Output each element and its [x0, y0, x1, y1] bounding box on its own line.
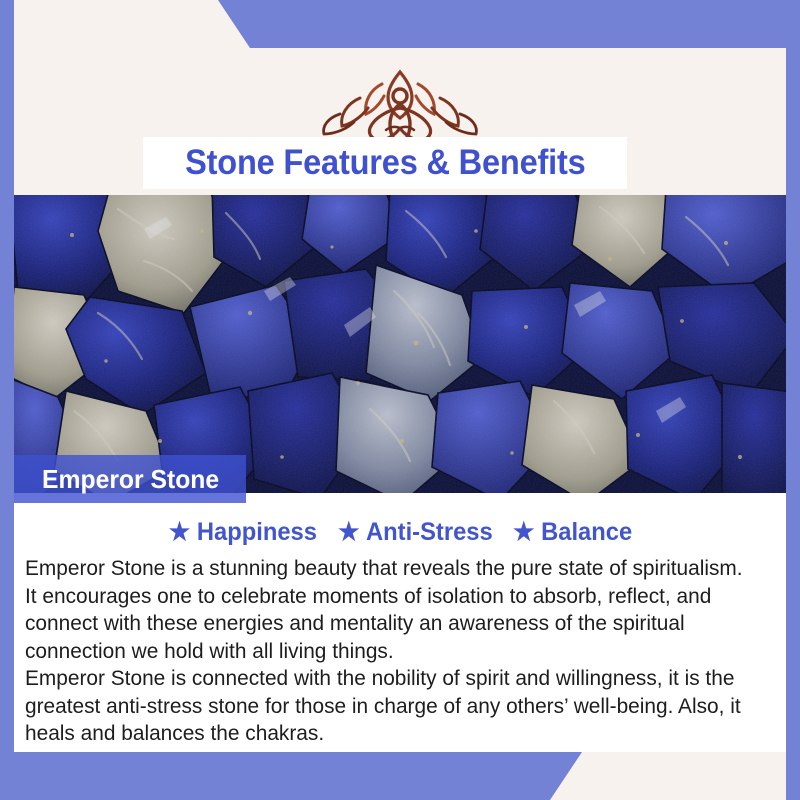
frame-corner-top-right: [0, 0, 800, 48]
frame-edge-right: [786, 0, 800, 800]
frame-corner-bottom-left: [0, 752, 800, 800]
description-copy: Emperor Stone is a stunning beauty that …: [14, 547, 786, 748]
stone-name-label: Emperor Stone: [19, 464, 219, 495]
description-paragraph-2: Emperor Stone is connected with the nobi…: [25, 665, 753, 748]
page-title-banner: Stone Features & Benefits: [143, 137, 627, 189]
stone-name-badge: Emperor Stone: [14, 455, 246, 503]
description-panel: ★ Happiness ★ Anti-Stress ★ Balance Empe…: [14, 493, 786, 752]
star-icon: ★: [169, 520, 190, 545]
benefit-label: Happiness: [197, 518, 317, 547]
benefit-label: Anti-Stress: [366, 518, 493, 547]
benefit-item-happiness: ★ Happiness: [169, 518, 317, 547]
lapis-lazuli-illustration: [14, 195, 786, 493]
frame-edge-left: [0, 0, 14, 800]
benefit-label: Balance: [541, 518, 632, 547]
benefit-item-anti-stress: ★ Anti-Stress: [338, 518, 493, 547]
page-title: Stone Features & Benefits: [185, 143, 586, 183]
description-paragraph-1: Emperor Stone is a stunning beauty that …: [25, 555, 753, 665]
star-icon: ★: [338, 520, 359, 545]
poster-root: BUDDHA STONES: [0, 0, 800, 800]
benefit-item-balance: ★ Balance: [513, 518, 632, 547]
hero-stone-photo: [14, 195, 786, 493]
star-icon: ★: [513, 520, 534, 545]
